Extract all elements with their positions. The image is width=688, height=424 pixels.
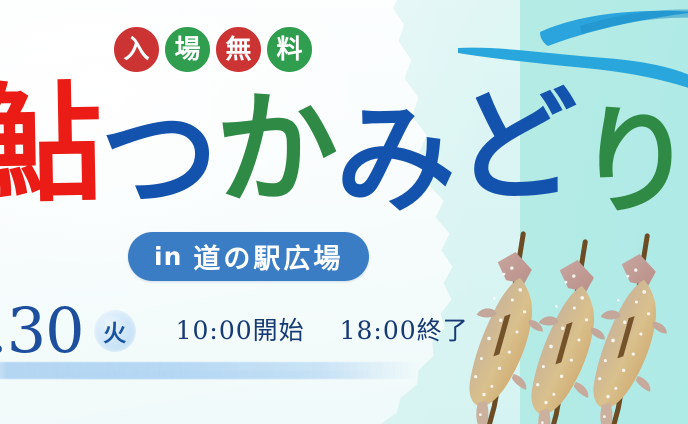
grilled-ayu-fish [577,229,688,424]
badge-label: 場 [174,37,200,63]
date-number: .30 [0,300,84,362]
venue-pill: in 道の駅広場 [128,232,369,281]
fish-svg [577,229,688,424]
fish-tail [622,254,657,287]
badge-ryou: 料 [265,25,314,74]
brush-stroke-band-secondary [40,371,380,379]
badge-nyu: 入 [112,25,161,74]
schedule-text: 10:00開始 18:00終了 [176,316,469,346]
event-poster: 入 場 無 料 鮎つかみどり in 道の駅広場 .30 火 10:00開始 18… [0,0,688,424]
fish-caudal-fin [476,400,489,424]
badge-label: 料 [276,37,302,63]
title-char-mi: み [334,93,455,228]
fish-caudal-fin [600,402,613,424]
title-char-tsu: つ [99,91,217,225]
venue-prefix: in [154,242,182,271]
day-of-week-label: 火 [103,314,126,348]
badge-label: 入 [123,37,149,63]
poster-title: 鮎つかみどり [0,76,674,216]
badge-jou: 場 [163,25,212,74]
title-char-do: ど [453,80,577,214]
fish-anal-fin [636,376,651,392]
day-of-week-badge: 火 [94,310,136,352]
badge-label: 無 [225,37,251,63]
date-schedule-row: .30 火 10:00開始 18:00終了 [0,300,469,362]
venue-place: 道の駅広場 [193,237,343,276]
fish-dorsal-fin [653,322,667,334]
title-char-ka: か [214,81,339,217]
free-admission-badge-group: 入 場 無 料 [112,25,314,74]
grilled-ayu-fish-group [455,210,688,424]
title-char-ayu: 鮎 [0,79,101,213]
badge-mu: 無 [214,25,263,74]
